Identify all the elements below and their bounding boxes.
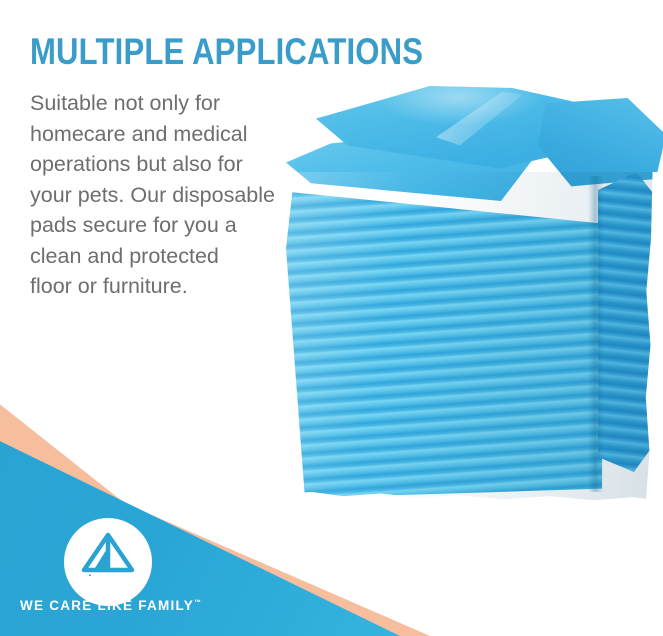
body-line: homecare and medical: [30, 119, 298, 150]
stack-shading: [282, 172, 663, 504]
body-paragraph: Suitable not only for homecare and medic…: [30, 88, 298, 302]
page-title: MULTIPLE APPLICATIONS: [30, 31, 383, 73]
body-line: clean and protected: [30, 241, 298, 272]
body-line: floor or furniture.: [30, 271, 298, 302]
trademark-symbol: ™: [194, 600, 201, 607]
stack-layers: [282, 172, 663, 504]
tagline-text: WE CARE LIKE FAMILY: [20, 598, 194, 613]
brand-tagline: WE CARE LIKE FAMILY™: [20, 598, 200, 613]
product-image-underpad-stack: [282, 86, 663, 504]
body-line: operations but also for: [30, 149, 298, 180]
body-line: Suitable not only for: [30, 88, 298, 119]
dynarex-logo-icon: dynarex: [80, 532, 136, 576]
body-line: your pets. Our disposable: [30, 180, 298, 211]
body-line: pads secure for you a: [30, 210, 298, 241]
svg-text:dynarex: dynarex: [84, 573, 132, 576]
marketing-banner: MULTIPLE APPLICATIONS Suitable not only …: [0, 0, 663, 636]
